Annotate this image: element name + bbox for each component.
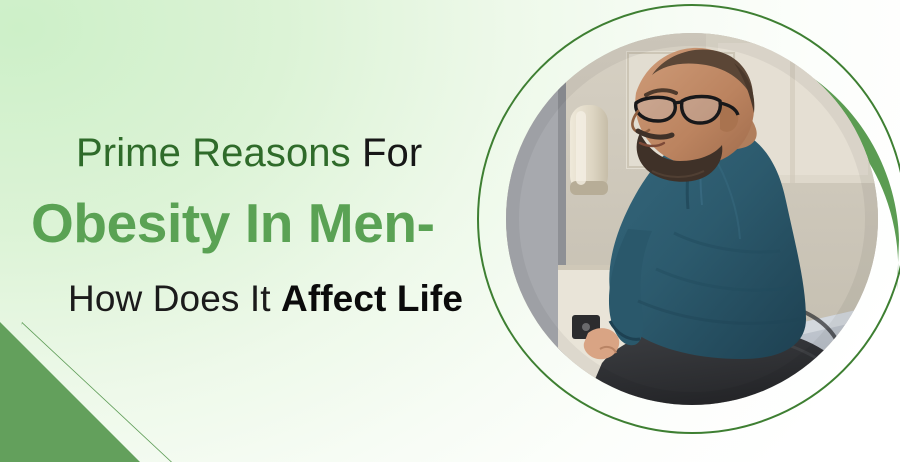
hero-photo <box>506 33 878 405</box>
headline-line-2: Obesity In Men- <box>31 196 435 251</box>
headline-line-1-black: For <box>351 131 423 175</box>
headline-line-3-bold: Affect Life <box>281 278 463 319</box>
headline-line-1-green: Prime Reasons <box>76 131 351 175</box>
headline-line-3-light: How Does It <box>68 278 281 319</box>
headline-line-3: How Does It Affect Life <box>68 280 463 317</box>
headline-line-1: Prime Reasons For <box>76 133 422 173</box>
photo-assembly <box>473 0 900 462</box>
headline-block: Prime Reasons For Obesity In Men- How Do… <box>0 0 470 462</box>
banner-root: Prime Reasons For Obesity In Men- How Do… <box>0 0 900 462</box>
